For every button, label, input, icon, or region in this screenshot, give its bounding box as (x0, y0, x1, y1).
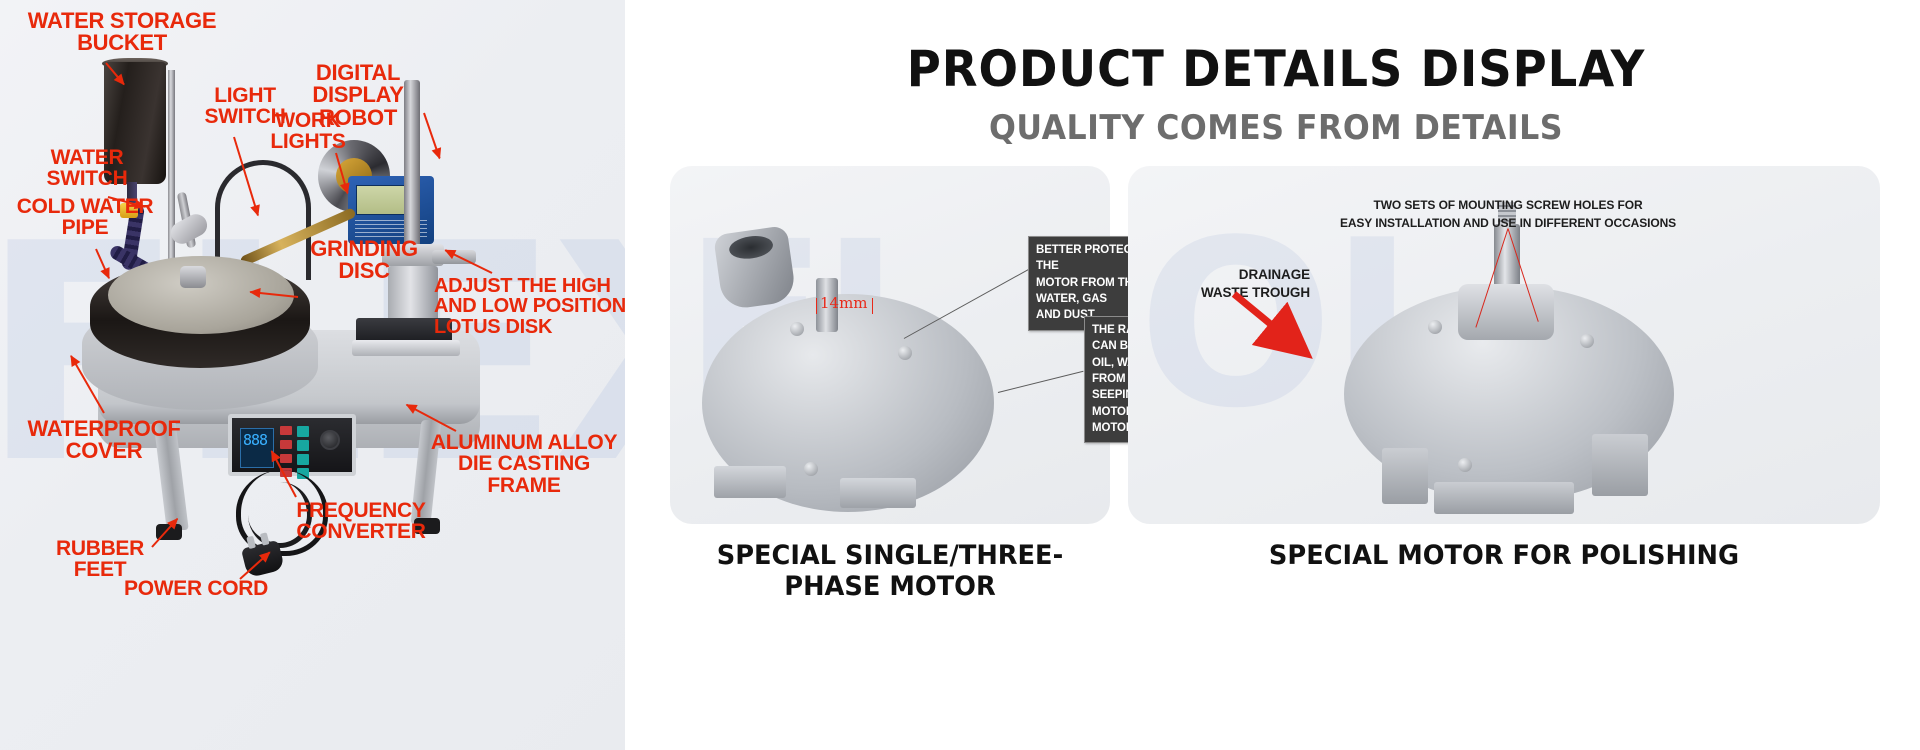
digital-display-unit (348, 176, 434, 244)
card-caption-polishing-motor: SPECIAL MOTOR FOR POLISHING (1147, 540, 1861, 571)
left-product-panel: FLEXTOOL (0, 0, 625, 750)
motor-base-plate (1434, 482, 1574, 514)
frequency-converter-part: 888 (228, 414, 356, 476)
motor-mount-bracket (714, 466, 786, 498)
motor-cooling-fin (1592, 434, 1648, 496)
vfd-button (280, 440, 292, 449)
motor-mount-bracket (840, 478, 916, 508)
label-frequency-converter: FREQUENCY CONVERTER (286, 500, 436, 543)
motor-screw (898, 346, 912, 360)
label-adjust-lotus-disk: ADJUST THE HIGH AND LOW POSITION LOTUS D… (434, 276, 625, 337)
callout-mounting-screw-holes: TWO SETS OF MOUNTING SCREW HOLES FOR EAS… (1312, 196, 1704, 232)
label-water-switch: WATER SWITCH (32, 147, 142, 190)
motor-screw (790, 322, 804, 336)
label-digital-display-robot: DIGITAL DISPLAY ROBOT (278, 62, 438, 129)
panel-divider (625, 0, 632, 750)
vfd-button (297, 440, 309, 451)
label-rubber-feet: RUBBER FEET (44, 538, 156, 581)
vfd-button (297, 426, 309, 437)
motor-screw (1428, 320, 1442, 334)
arrow-drainage-waste-trough (1228, 292, 1318, 364)
motor-screw (1580, 334, 1594, 348)
vfd-button (280, 426, 292, 435)
motor-screw (1458, 458, 1472, 472)
label-cold-water-pipe: COLD WATER PIPE (12, 196, 158, 239)
label-waterproof-cover: WATERPROOF COVER (24, 418, 184, 463)
vfd-screen: 888 (240, 428, 274, 468)
motor-hub (1458, 284, 1554, 340)
page-title: PRODUCT DETAILS DISPLAY (677, 40, 1875, 98)
card-caption-single-three-phase: SPECIAL SINGLE/THREE-PHASE MOTOR (681, 540, 1099, 602)
right-details-panel: PRODUCT DETAILS DISPLAY QUALITY COMES FR… (632, 0, 1920, 750)
label-grinding-disc: GRINDING DISC (300, 238, 428, 283)
page-subtitle: QUALITY COMES FROM DETAILS (677, 108, 1875, 148)
label-aluminum-alloy-frame: ALUMINUM ALLOY DIE CASTING FRAME (424, 432, 624, 496)
vfd-button (297, 454, 309, 465)
dimension-tick-left (816, 298, 817, 314)
label-power-cord: POWER CORD (116, 578, 276, 599)
dimension-14mm-label: 14mm (820, 294, 868, 312)
vfd-readout: 888 (241, 429, 273, 449)
infographic-root: FLEXTOOL (0, 0, 1920, 750)
dimension-tick-right (872, 298, 873, 314)
vfd-button (280, 454, 292, 463)
motor-screw (804, 462, 818, 476)
motor-air-inlet (713, 225, 797, 311)
motor-cooling-fin (1382, 448, 1428, 504)
digital-display-screen (356, 185, 406, 215)
disc-hub (180, 266, 206, 288)
vfd-knob (320, 430, 340, 450)
clamp-plate (352, 340, 460, 356)
card-single-three-phase-motor: FL 14mm (670, 166, 1110, 524)
label-water-storage-bucket: WATER STORAGE BUCKET (22, 10, 222, 55)
